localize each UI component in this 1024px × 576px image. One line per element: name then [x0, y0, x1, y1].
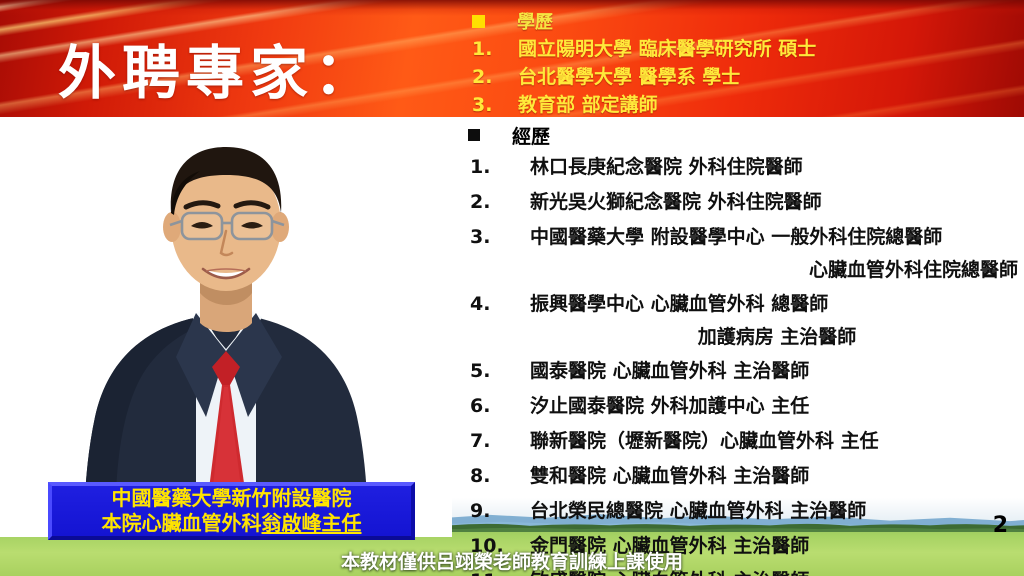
footer-watermark: 本教材僅供呂翊榮老師教育訓練上課使用 [0, 547, 1024, 574]
experience-item-body: 聯新醫院（壢新醫院）心臟血管外科 主任 [530, 424, 1024, 458]
slide-canvas: 外聘專家： 學歷 1. 國立陽明大學 臨床醫學研究所 碩士 2. 台北醫學大學 … [0, 0, 1024, 576]
experience-item: 4. 振興醫學中心 心臟血管外科 總醫師 加護病房 主治醫師 [468, 287, 1024, 353]
experience-item-number: 3. [468, 220, 530, 254]
speaker-portrait-photo [0, 117, 452, 537]
experience-item-body: 台北榮民總醫院 心臟血管外科 主治醫師 [530, 494, 1024, 528]
experience-item-line1: 振興醫學中心 心臟血管外科 總醫師 [530, 287, 1024, 321]
experience-item-number: 4. [468, 287, 530, 321]
experience-item-line1: 新光吳火獅紀念醫院 外科住院醫師 [530, 185, 1024, 219]
experience-item: 5. 國泰醫院 心臟血管外科 主治醫師 [468, 354, 1024, 388]
experience-item-number: 9. [468, 494, 530, 528]
experience-item: 7. 聯新醫院（壢新醫院）心臟血管外科 主任 [468, 424, 1024, 458]
education-item: 1. 國立陽明大學 臨床醫學研究所 碩士 [472, 34, 1020, 62]
education-item: 3. 教育部 部定講師 [472, 90, 1020, 118]
portrait-illustration [0, 117, 452, 537]
education-item-number: 3. [472, 94, 518, 116]
experience-item-body: 國泰醫院 心臟血管外科 主治醫師 [530, 354, 1024, 388]
caption-line-2: 本院心臟血管外科翁啟峰主任 [102, 511, 362, 536]
experience-item-line1: 雙和醫院 心臟血管外科 主治醫師 [530, 459, 1024, 493]
experience-item-body: 林口長庚紀念醫院 外科住院醫師 [530, 150, 1024, 184]
experience-item-number: 5. [468, 354, 530, 388]
education-heading: 學歷 [472, 8, 1020, 34]
education-item-number: 2. [472, 66, 518, 88]
experience-item-line1: 林口長庚紀念醫院 外科住院醫師 [530, 150, 1024, 184]
experience-item-body: 中國醫藥大學 附設醫學中心 一般外科住院總醫師 心臟血管外科住院總醫師 [530, 220, 1024, 286]
experience-section: 經歷 1. 林口長庚紀念醫院 外科住院醫師 2. 新光吳火獅紀念醫院 外科住院醫… [468, 120, 1024, 576]
experience-item-number: 7. [468, 424, 530, 458]
experience-item-body: 振興醫學中心 心臟血管外科 總醫師 加護病房 主治醫師 [530, 287, 1024, 353]
experience-item-line1: 台北榮民總醫院 心臟血管外科 主治醫師 [530, 494, 1024, 528]
experience-item-line1: 汐止國泰醫院 外科加護中心 主任 [530, 389, 1024, 423]
experience-item-line1: 中國醫藥大學 附設醫學中心 一般外科住院總醫師 [530, 220, 1024, 254]
experience-item-body: 雙和醫院 心臟血管外科 主治醫師 [530, 459, 1024, 493]
caption-line-2-name: 翁啟峰主任 [262, 511, 362, 535]
experience-item-body: 汐止國泰醫院 外科加護中心 主任 [530, 389, 1024, 423]
experience-item-number: 2. [468, 185, 530, 219]
black-square-bullet-icon [468, 129, 480, 141]
experience-item: 9. 台北榮民總醫院 心臟血管外科 主治醫師 [468, 494, 1024, 528]
education-item-label: 台北醫學大學 醫學系 學士 [518, 62, 740, 89]
experience-item: 2. 新光吳火獅紀念醫院 外科住院醫師 [468, 185, 1024, 219]
education-section: 學歷 1. 國立陽明大學 臨床醫學研究所 碩士 2. 台北醫學大學 醫學系 學士… [472, 8, 1020, 118]
page-title: 外聘專家： [58, 26, 378, 110]
experience-item-number: 6. [468, 389, 530, 423]
experience-item-body: 新光吳火獅紀念醫院 外科住院醫師 [530, 185, 1024, 219]
experience-item-number: 1. [468, 150, 530, 184]
experience-heading: 經歷 [468, 120, 1024, 150]
experience-item: 1. 林口長庚紀念醫院 外科住院醫師 [468, 150, 1024, 184]
experience-item-line1: 聯新醫院（壢新醫院）心臟血管外科 主任 [530, 424, 1024, 458]
caption-line-2-prefix: 本院心臟血管外科 [102, 511, 262, 535]
education-item-label: 教育部 部定講師 [518, 90, 658, 117]
education-item: 2. 台北醫學大學 醫學系 學士 [472, 62, 1020, 90]
education-item-label: 國立陽明大學 臨床醫學研究所 碩士 [518, 34, 816, 61]
education-item-number: 1. [472, 38, 518, 60]
caption-box: 中國醫藥大學新竹附設醫院 本院心臟血管外科翁啟峰主任 [48, 482, 415, 540]
caption-line-1: 中國醫藥大學新竹附設醫院 [112, 486, 352, 511]
experience-heading-label: 經歷 [512, 122, 550, 149]
yellow-square-bullet-icon [472, 15, 485, 28]
experience-item-line1: 國泰醫院 心臟血管外科 主治醫師 [530, 354, 1024, 388]
experience-item: 8. 雙和醫院 心臟血管外科 主治醫師 [468, 459, 1024, 493]
education-heading-label: 學歷 [517, 8, 553, 34]
experience-item-number: 8. [468, 459, 530, 493]
experience-item: 6. 汐止國泰醫院 外科加護中心 主任 [468, 389, 1024, 423]
experience-item-line2: 心臟血管外科住院總醫師 [530, 254, 1024, 286]
page-number: 2 [993, 513, 1008, 538]
experience-item: 3. 中國醫藥大學 附設醫學中心 一般外科住院總醫師 心臟血管外科住院總醫師 [468, 220, 1024, 286]
experience-item-line2: 加護病房 主治醫師 [530, 321, 1024, 353]
